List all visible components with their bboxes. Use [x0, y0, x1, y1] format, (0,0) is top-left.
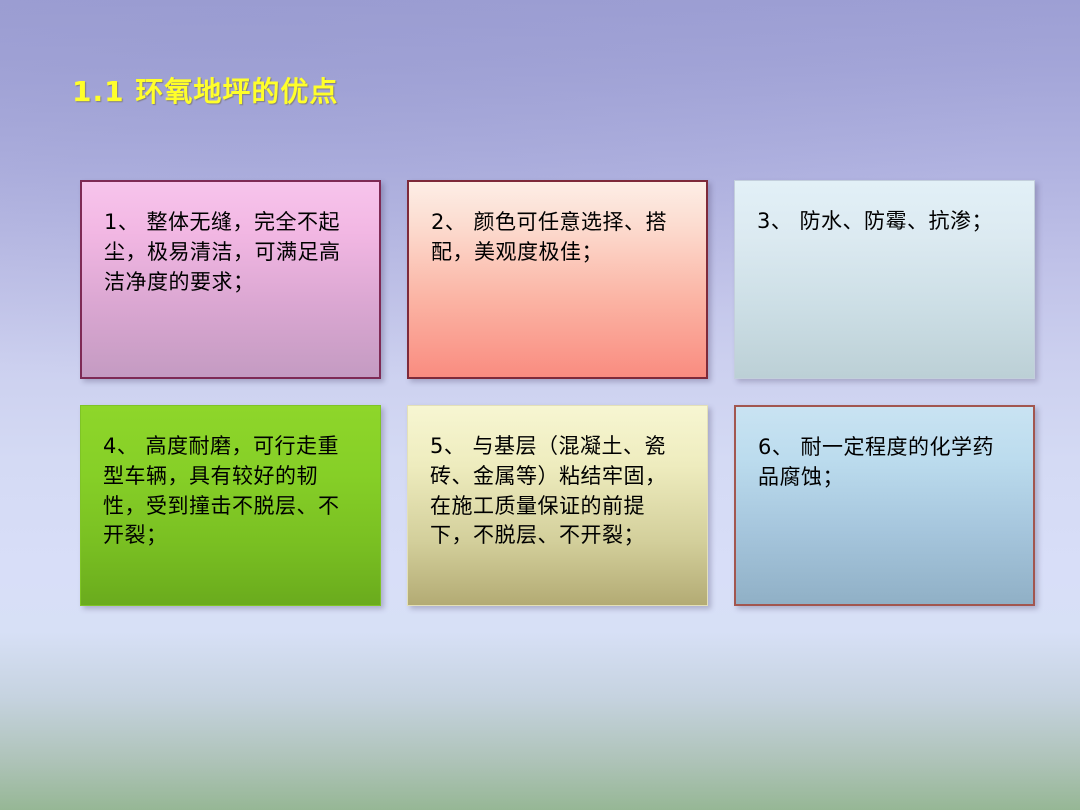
advantage-text-1: 1、 整体无缝，完全不起尘，极易清洁，可满足高洁净度的要求； — [104, 208, 359, 297]
slide-canvas: 1.1 环氧地坪的优点 1、 整体无缝，完全不起尘，极易清洁，可满足高洁净度的要… — [0, 0, 1080, 810]
advantage-box-3: 3、 防水、防霉、抗渗； — [734, 180, 1035, 379]
advantage-box-2: 2、 颜色可任意选择、搭配，美观度极佳； — [407, 180, 708, 379]
advantage-text-2: 2、 颜色可任意选择、搭配，美观度极佳； — [431, 208, 686, 268]
advantage-text-5: 5、 与基层（混凝土、瓷砖、金属等）粘结牢固，在施工质量保证的前提下，不脱层、不… — [430, 432, 687, 551]
advantage-text-4: 4、 高度耐磨，可行走重型车辆，具有较好的韧性，受到撞击不脱层、不开裂； — [103, 432, 360, 551]
advantage-text-3: 3、 防水、防霉、抗渗； — [757, 207, 1014, 237]
advantage-text-6: 6、 耐一定程度的化学药品腐蚀； — [758, 433, 1013, 493]
advantage-box-4: 4、 高度耐磨，可行走重型车辆，具有较好的韧性，受到撞击不脱层、不开裂； — [80, 405, 381, 606]
page-title: 1.1 环氧地坪的优点 — [72, 70, 338, 110]
advantage-box-1: 1、 整体无缝，完全不起尘，极易清洁，可满足高洁净度的要求； — [80, 180, 381, 379]
advantage-box-5: 5、 与基层（混凝土、瓷砖、金属等）粘结牢固，在施工质量保证的前提下，不脱层、不… — [407, 405, 708, 606]
advantage-box-6: 6、 耐一定程度的化学药品腐蚀； — [734, 405, 1035, 606]
